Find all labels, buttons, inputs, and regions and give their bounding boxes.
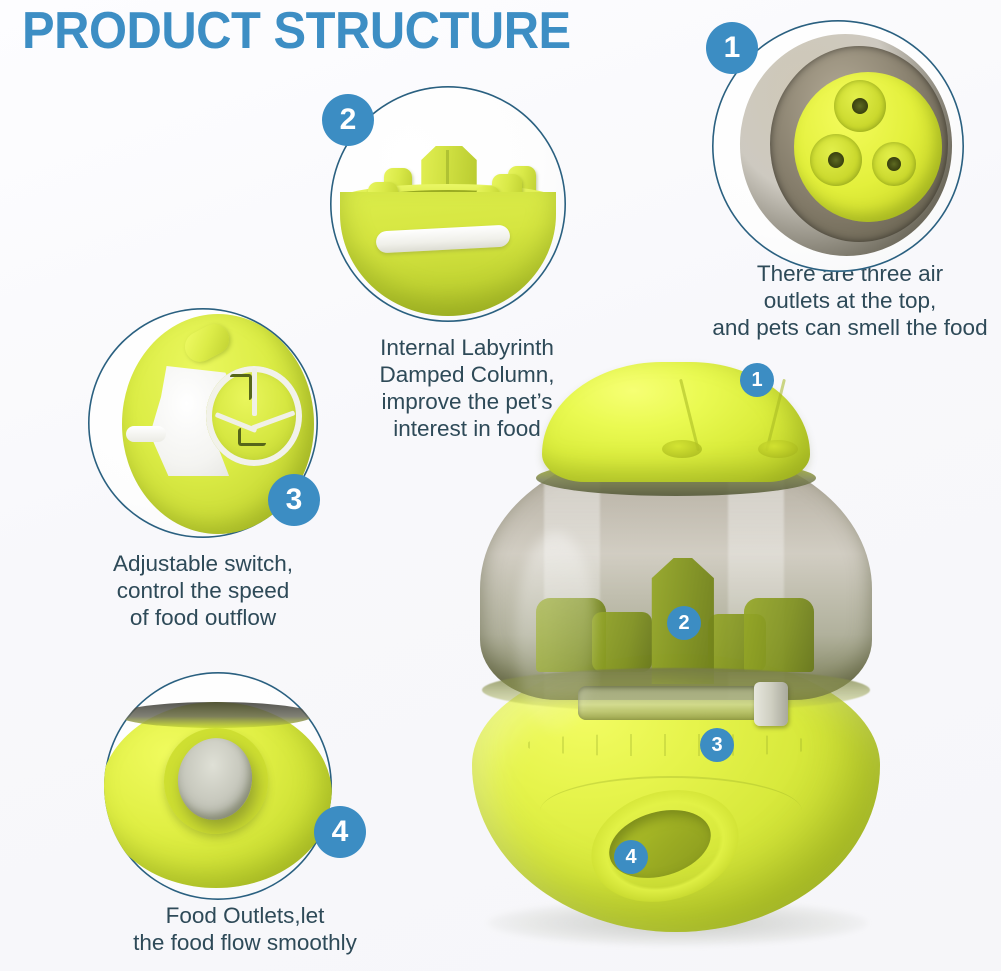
badge-2: 2 [322,94,374,146]
main-product-photo [458,352,894,952]
badge-1: 1 [706,22,758,74]
air-outlet-icon [758,440,798,458]
product-top-cap [794,72,942,222]
product-marker-1: 1 [740,363,774,397]
badge-4: 4 [314,806,366,858]
infographic-canvas: PRODUCT STRUCTURE 1 There are three air … [0,0,1001,971]
air-outlet-icon [810,134,862,186]
detail-photo-food-outlet [104,672,332,900]
switch-notch [230,374,252,400]
caption-1: There are three air outlets at the top, … [700,260,1000,341]
product-marker-2: 2 [667,606,701,640]
bowl-body [340,192,556,316]
page-title: PRODUCT STRUCTURE [22,2,571,60]
switch-notch [238,428,266,446]
product-base-ridges [528,734,816,756]
adjustable-switch-knob [754,682,788,726]
inner-labyrinth-pillar [592,612,652,672]
product-marker-4: 4 [614,840,648,874]
caption-3: Adjustable switch, control the speed of … [78,550,328,631]
product-highlight [516,532,596,732]
switch-white-bar [126,426,166,442]
outlet-top-edge [118,702,314,728]
air-outlet-icon [834,80,886,132]
inner-labyrinth-pillar [744,598,814,672]
product-marker-3: 3 [700,728,734,762]
caption-4: Food Outlets,let the food flow smoothly [92,902,398,956]
air-outlet-icon [872,142,916,186]
air-outlet-icon [662,440,702,458]
badge-3: 3 [268,474,320,526]
switch-spoke [252,368,257,416]
